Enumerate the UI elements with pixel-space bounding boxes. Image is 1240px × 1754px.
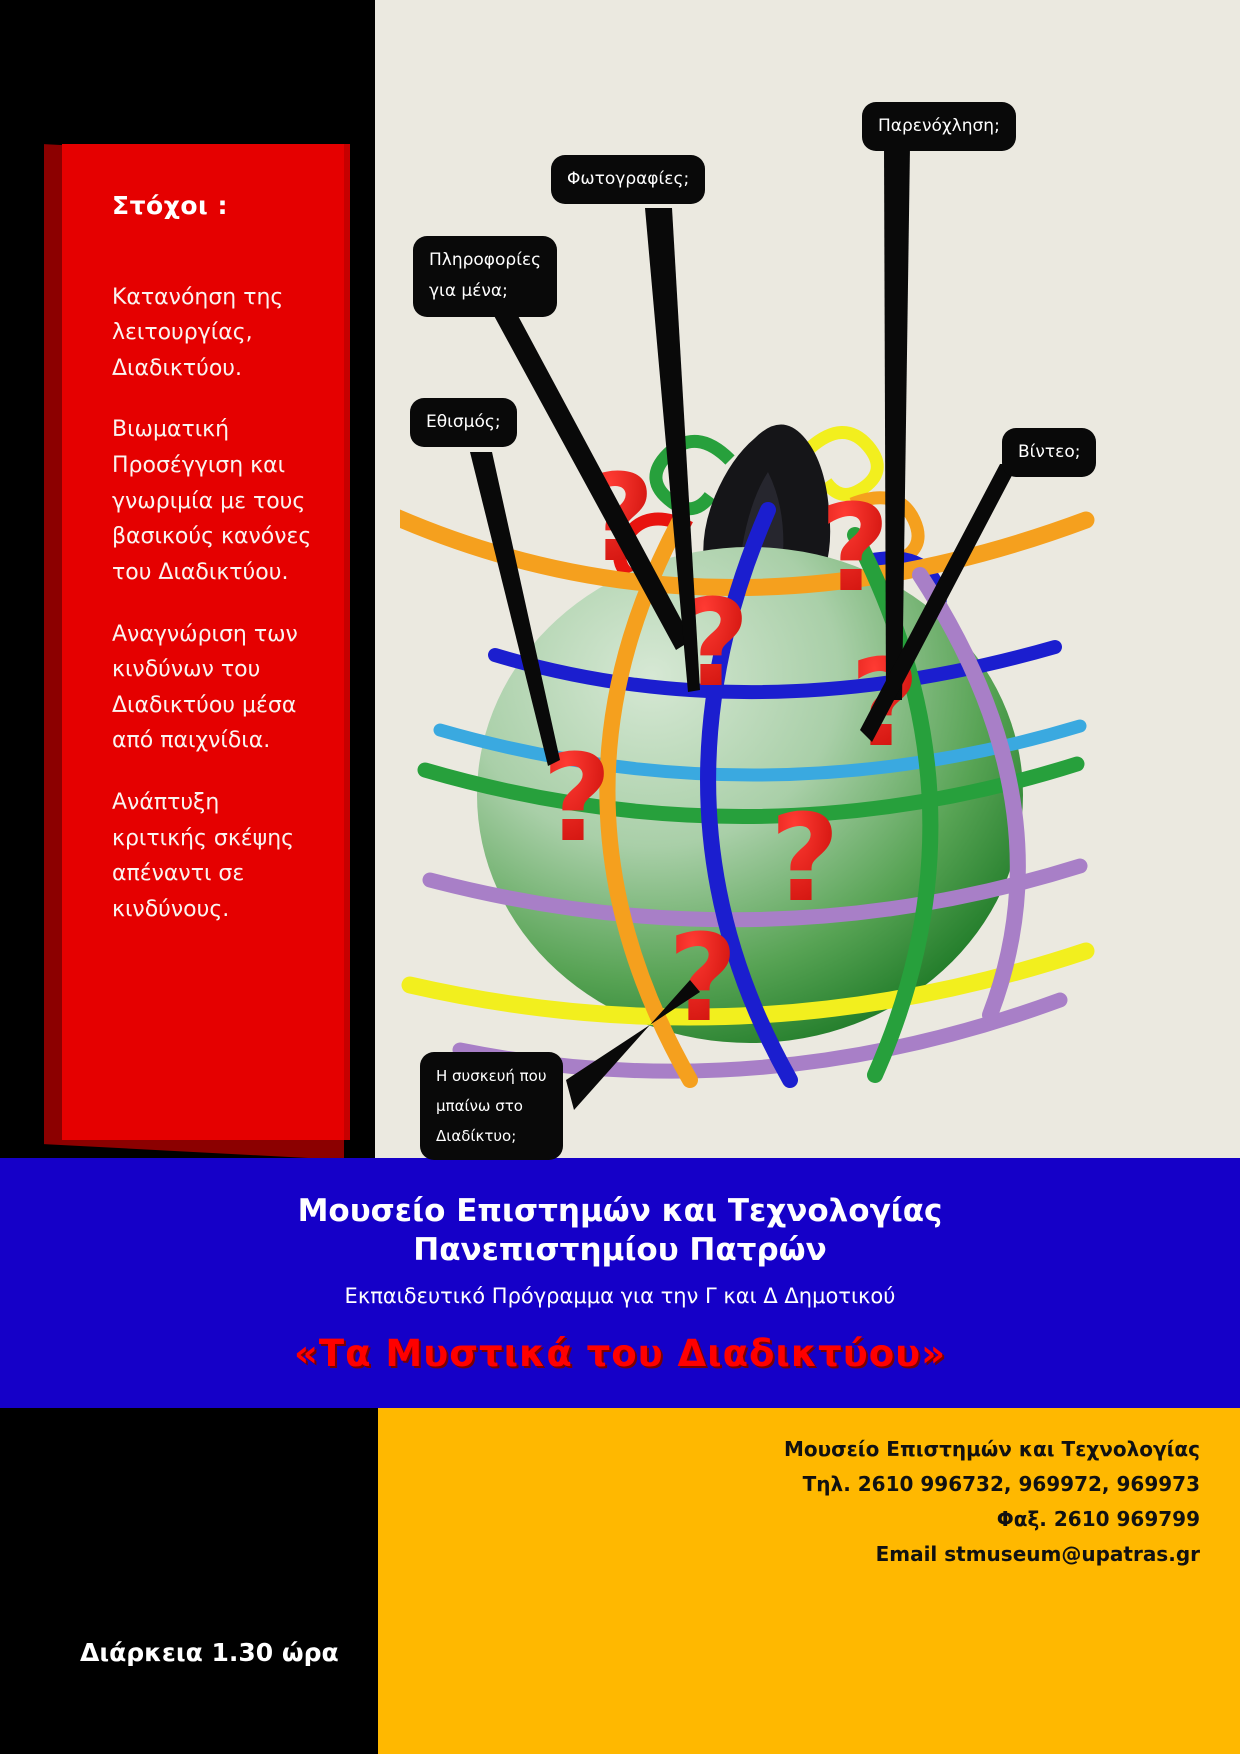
- bubble-video[interactable]: Βίντεο;: [1002, 428, 1096, 477]
- stem-addiction: [470, 452, 560, 766]
- stem-harassment: [884, 146, 910, 700]
- program-title: «Τα Μυστικά του Διαδικτύου»: [0, 1332, 1240, 1375]
- museum-name-line1: Μουσείο Επιστημών και Τεχνολογίας: [0, 1192, 1240, 1231]
- bubble-device[interactable]: Η συσκευή που μπαίνω στο Διαδίκτυο;: [420, 1052, 563, 1160]
- goal-item-4: Ανάπτυξη κριτικής σκέψης απέναντι σε κιν…: [112, 785, 320, 928]
- poster-root: ? ? ? ? ? ? ? Εθισμός; Πληροφορίες για μ…: [0, 0, 1240, 1754]
- bubble-photos[interactable]: Φωτογραφίες;: [551, 155, 705, 204]
- goal-item-2: Βιωματική Προσέγγιση και γνωριμία με του…: [112, 412, 320, 590]
- contact-line-1: Μουσείο Επιστημών και Τεχνολογίας: [784, 1432, 1200, 1467]
- duration-label: Διάρκεια 1.30 ώρα: [80, 1638, 339, 1667]
- blue-banner: Μουσείο Επιστημών και Τεχνολογίας Πανεπι…: [0, 1158, 1240, 1408]
- stem-video: [860, 464, 1018, 742]
- bubble-addiction[interactable]: Εθισμός;: [410, 398, 517, 447]
- stem-device: [566, 980, 700, 1110]
- contact-line-3: Φαξ. 2610 969799: [784, 1502, 1200, 1537]
- museum-name-line2: Πανεπιστημίου Πατρών: [0, 1231, 1240, 1270]
- contact-details: Μουσείο Επιστημών και Τεχνολογίας Τηλ. 2…: [784, 1432, 1200, 1572]
- footer-black-block: [0, 1408, 378, 1754]
- goals-box: Στόχοι : Κατανόηση της λειτουργίας, Διαδ…: [62, 144, 350, 1140]
- goal-item-1: Κατανόηση της λειτουργίας, Διαδικτύου.: [112, 280, 320, 387]
- bubble-information[interactable]: Πληροφορίες για μένα;: [413, 236, 557, 317]
- contact-line-4: Email stmuseum@upatras.gr: [784, 1537, 1200, 1572]
- bubble-harassment[interactable]: Παρενόχληση;: [862, 102, 1016, 151]
- program-subtitle: Εκπαιδευτικό Πρόγραμμα για την Γ και Δ Δ…: [0, 1284, 1240, 1308]
- goals-title: Στόχοι :: [112, 192, 320, 220]
- goal-item-3: Αναγνώριση των κινδύνων του Διαδικτύου μ…: [112, 617, 320, 760]
- contact-line-2: Τηλ. 2610 996732, 969972, 969973: [784, 1467, 1200, 1502]
